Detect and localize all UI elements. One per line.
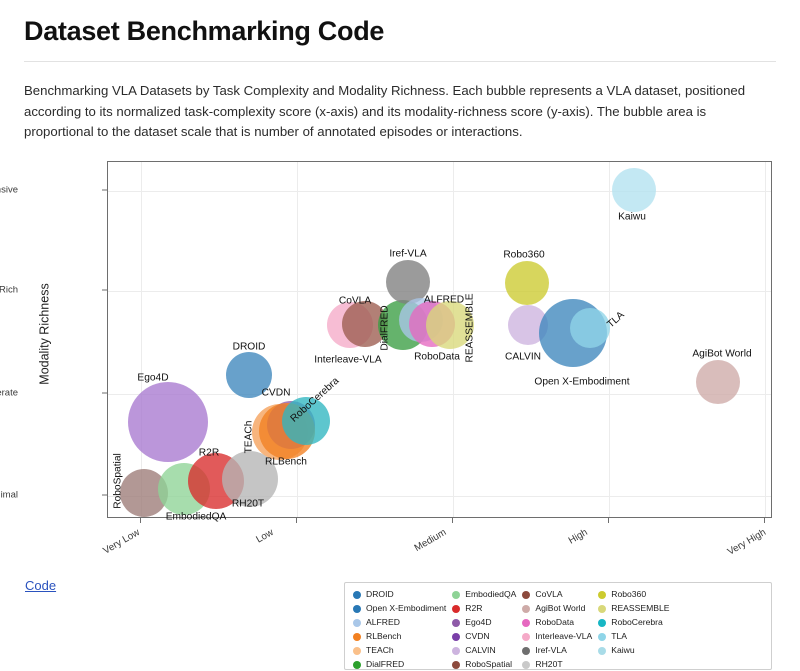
- legend-label: Open X-Embodiment: [366, 602, 446, 615]
- header-divider: [24, 61, 776, 62]
- gridline-vertical: [141, 162, 142, 517]
- bubble-label-open-x-embodiment: Open X-Embodiment: [534, 377, 629, 388]
- bubble-kaiwu[interactable]: [612, 168, 656, 212]
- chart-description: Benchmarking VLA Datasets by Task Comple…: [24, 81, 766, 143]
- y-tick-minimal: Minimal: [0, 490, 18, 501]
- bubble-agibot-world[interactable]: [696, 360, 740, 404]
- bubble-label-cvdn: CVDN: [262, 388, 291, 399]
- legend-swatch-icon: [452, 647, 460, 655]
- x-tick-mark: [296, 518, 297, 523]
- legend-label: CVDN: [465, 630, 489, 643]
- legend-label: DialFRED: [366, 658, 404, 671]
- legend-swatch-icon: [598, 633, 606, 641]
- legend-item-interleave-vla[interactable]: Interleave-VLA: [522, 630, 592, 643]
- legend-item-r2r[interactable]: R2R: [452, 602, 516, 615]
- legend-label: Iref-VLA: [535, 644, 567, 657]
- legend-label: CoVLA: [535, 588, 562, 601]
- legend-item-tla[interactable]: TLA: [598, 630, 669, 643]
- legend-swatch-icon: [452, 633, 460, 641]
- gridline-vertical: [765, 162, 766, 517]
- legend-label: R2R: [465, 602, 482, 615]
- legend-label: Robo360: [611, 588, 646, 601]
- y-axis-title: Modality Richness: [38, 283, 52, 384]
- legend-item-agibot-world[interactable]: AgiBot World: [522, 602, 592, 615]
- bubble-label-iref-vla: Iref-VLA: [389, 249, 426, 260]
- chart-legend[interactable]: DROIDOpen X-EmbodimentALFREDRLBenchTEACh…: [344, 582, 772, 670]
- legend-swatch-icon: [598, 605, 606, 613]
- legend-swatch-icon: [598, 647, 606, 655]
- gridline-horizontal: [108, 291, 771, 292]
- bubble-label-alfred: ALFRED: [424, 295, 464, 306]
- legend-swatch-icon: [452, 661, 460, 669]
- y-tick-mark: [102, 495, 107, 496]
- x-tick-medium: Medium: [413, 527, 449, 554]
- bubble-label-agibot-world: AgiBot World: [692, 349, 751, 360]
- legend-column-4: Robo360REASSEMBLERoboCerebraTLAKaiwu: [598, 588, 669, 665]
- bubble-tla[interactable]: [570, 308, 610, 348]
- legend-label: RoboSpatial: [465, 658, 512, 671]
- legend-swatch-icon: [353, 591, 361, 599]
- x-tick-low: Low: [254, 527, 275, 546]
- bubble-chart-figure: Modality Richness MinimalModerateRichCom…: [0, 155, 800, 555]
- bubble-label-robospatial: RoboSpatial: [113, 453, 124, 509]
- legend-label: Kaiwu: [611, 644, 634, 657]
- legend-item-calvin[interactable]: CALVIN: [452, 644, 516, 657]
- legend-swatch-icon: [353, 633, 361, 641]
- bubble-label-reassemble: REASSEMBLE: [465, 293, 476, 362]
- legend-swatch-icon: [598, 591, 606, 599]
- x-tick-mark: [608, 518, 609, 523]
- legend-swatch-icon: [522, 619, 530, 627]
- bubble-robo360[interactable]: [505, 261, 549, 305]
- x-tick-mark: [140, 518, 141, 523]
- page-title: Dataset Benchmarking Code: [24, 16, 384, 47]
- legend-swatch-icon: [353, 605, 361, 613]
- legend-swatch-icon: [452, 605, 460, 613]
- gridline-horizontal: [108, 394, 771, 395]
- bubble-label-droid: DROID: [233, 342, 266, 353]
- legend-item-embodiedqa[interactable]: EmbodiedQA: [452, 588, 516, 601]
- legend-label: Interleave-VLA: [535, 630, 592, 643]
- legend-label: DROID: [366, 588, 394, 601]
- y-tick-moderate: Moderate: [0, 388, 18, 399]
- legend-label: RoboCerebra: [611, 616, 663, 629]
- legend-swatch-icon: [522, 591, 530, 599]
- legend-label: CALVIN: [465, 644, 495, 657]
- legend-label: TEACh: [366, 644, 394, 657]
- legend-swatch-icon: [353, 619, 361, 627]
- legend-swatch-icon: [452, 619, 460, 627]
- bubble-ego4d[interactable]: [128, 382, 208, 462]
- legend-column-2: EmbodiedQAR2REgo4DCVDNCALVINRoboSpatial: [452, 588, 516, 665]
- legend-item-robo360[interactable]: Robo360: [598, 588, 669, 601]
- legend-item-rlbench[interactable]: RLBench: [353, 630, 446, 643]
- code-link[interactable]: Code: [25, 578, 56, 593]
- legend-item-alfred[interactable]: ALFRED: [353, 616, 446, 629]
- x-tick-mark: [452, 518, 453, 523]
- bubble-label-robo360: Robo360: [503, 250, 544, 261]
- y-tick-mark: [102, 190, 107, 191]
- y-tick-mark: [102, 393, 107, 394]
- y-tick-mark: [102, 290, 107, 291]
- x-tick-mark: [764, 518, 765, 523]
- bubble-label-covla: CoVLA: [339, 296, 371, 307]
- legend-column-3: CoVLAAgiBot WorldRoboDataInterleave-VLAI…: [522, 588, 592, 665]
- legend-item-kaiwu[interactable]: Kaiwu: [598, 644, 669, 657]
- legend-item-teach[interactable]: TEACh: [353, 644, 446, 657]
- legend-swatch-icon: [522, 647, 530, 655]
- legend-swatch-icon: [522, 633, 530, 641]
- legend-label: ALFRED: [366, 616, 400, 629]
- legend-item-dialfred[interactable]: DialFRED: [353, 658, 446, 671]
- y-tick-rich: Rich: [0, 285, 18, 296]
- legend-item-reassemble[interactable]: REASSEMBLE: [598, 602, 669, 615]
- legend-label: TLA: [611, 630, 627, 643]
- legend-label: Ego4D: [465, 616, 491, 629]
- legend-item-ego4d[interactable]: Ego4D: [452, 616, 516, 629]
- bubble-label-ego4d: Ego4D: [137, 373, 168, 384]
- legend-item-robospatial[interactable]: RoboSpatial: [452, 658, 516, 671]
- gridline-vertical: [609, 162, 610, 517]
- legend-label: RH20T: [535, 658, 562, 671]
- bubble-label-embodiedqa: EmbodiedQA: [166, 512, 227, 523]
- bubble-label-teach: TEACh: [244, 421, 255, 454]
- legend-item-robodata[interactable]: RoboData: [522, 616, 592, 629]
- x-tick-very-high: Very High: [726, 527, 768, 558]
- legend-item-open-x-embodiment[interactable]: Open X-Embodiment: [353, 602, 446, 615]
- legend-swatch-icon: [598, 619, 606, 627]
- legend-item-robocerebra[interactable]: RoboCerebra: [598, 616, 669, 629]
- x-tick-very-low: Very Low: [101, 527, 141, 557]
- legend-item-covla[interactable]: CoVLA: [522, 588, 592, 601]
- bubble-label-rh20t: RH20T: [232, 499, 264, 510]
- legend-label: EmbodiedQA: [465, 588, 516, 601]
- legend-item-iref-vla[interactable]: Iref-VLA: [522, 644, 592, 657]
- bubble-label-calvin: CALVIN: [505, 352, 541, 363]
- bubble-label-kaiwu: Kaiwu: [618, 212, 646, 223]
- bubble-label-dialfred: DialFRED: [380, 305, 391, 350]
- bubble-label-interleave-vla: Interleave-VLA: [314, 355, 381, 366]
- bubble-label-robodata: RoboData: [414, 352, 460, 363]
- bubble-label-r2r: R2R: [199, 448, 219, 459]
- legend-label: RoboData: [535, 616, 574, 629]
- legend-label: RLBench: [366, 630, 401, 643]
- legend-swatch-icon: [353, 647, 361, 655]
- legend-item-cvdn[interactable]: CVDN: [452, 630, 516, 643]
- legend-swatch-icon: [522, 661, 530, 669]
- legend-label: AgiBot World: [535, 602, 585, 615]
- legend-column-1: DROIDOpen X-EmbodimentALFREDRLBenchTEACh…: [353, 588, 446, 665]
- y-tick-comprehensive: Comprehensive: [0, 185, 18, 196]
- gridline-horizontal: [108, 191, 771, 192]
- bubble-label-rlbench: RLBench: [265, 457, 307, 468]
- legend-swatch-icon: [452, 591, 460, 599]
- legend-item-rh20t[interactable]: RH20T: [522, 658, 592, 671]
- legend-item-droid[interactable]: DROID: [353, 588, 446, 601]
- legend-label: REASSEMBLE: [611, 602, 669, 615]
- x-tick-high: High: [567, 527, 590, 547]
- legend-swatch-icon: [353, 661, 361, 669]
- legend-swatch-icon: [522, 605, 530, 613]
